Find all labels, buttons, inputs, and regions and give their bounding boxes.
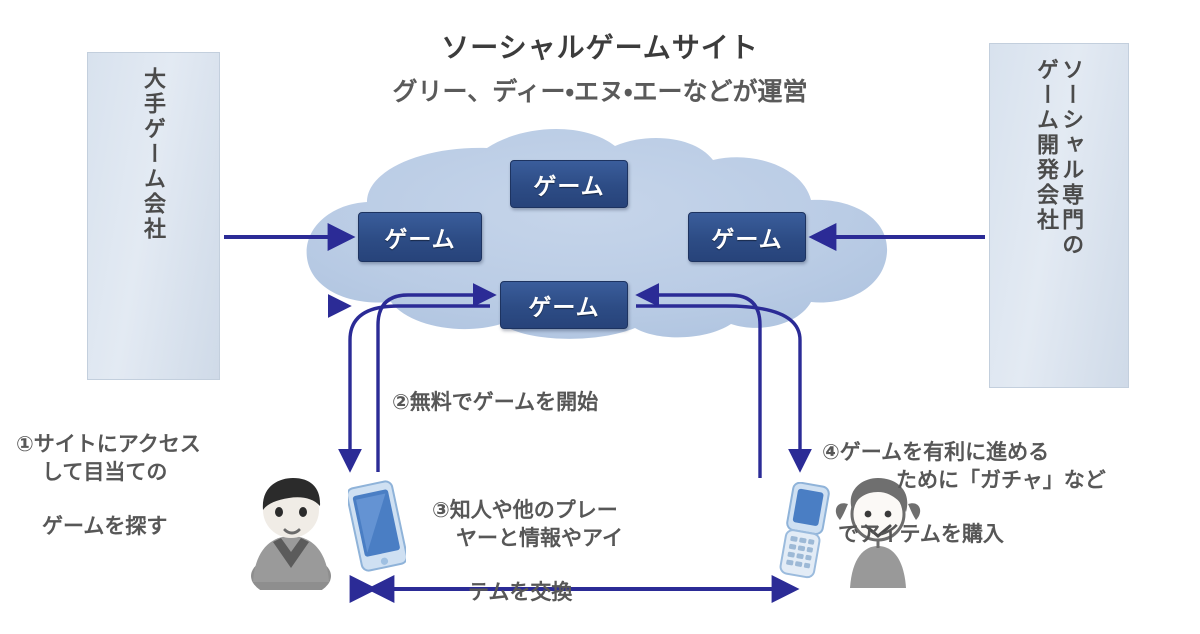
annotation-4-line-3: でアイテムを購入	[822, 521, 1194, 548]
diagram-canvas: ソーシャルゲームサイト グリー、ディー・エヌ・エーなどが運営 ゲーム ゲーム ゲ…	[0, 0, 1200, 628]
annotation-1-line-3: ゲームを探す	[16, 513, 326, 540]
annotation-3-line-3: テムを交換	[432, 579, 702, 606]
annotation-2-line-1: ②無料でゲームを開始	[392, 391, 598, 414]
annotation-3-line-1: ③知人や他のプレー	[432, 499, 618, 522]
annotation-4-line-2: ために「ガチャ」など	[822, 467, 1194, 494]
smartphone-icon	[348, 480, 406, 572]
annotation-1-line-1: ①サイトにアクセス	[16, 433, 201, 456]
annotation-1-line-2: して目当ての	[16, 459, 326, 486]
annotation-1: ①サイトにアクセス して目当ての ゲームを探す	[16, 404, 326, 568]
annotation-3-line-2: ヤーと情報やアイ	[432, 525, 702, 552]
annotation-4: ④ゲームを有利に進める ために「ガチャ」など でアイテムを購入	[822, 412, 1194, 576]
annotation-3: ③知人や他のプレー ヤーと情報やアイ テムを交換	[432, 470, 702, 634]
annotation-4-line-1: ④ゲームを有利に進める	[822, 441, 1049, 464]
annotation-2: ②無料でゲームを開始	[392, 362, 762, 417]
